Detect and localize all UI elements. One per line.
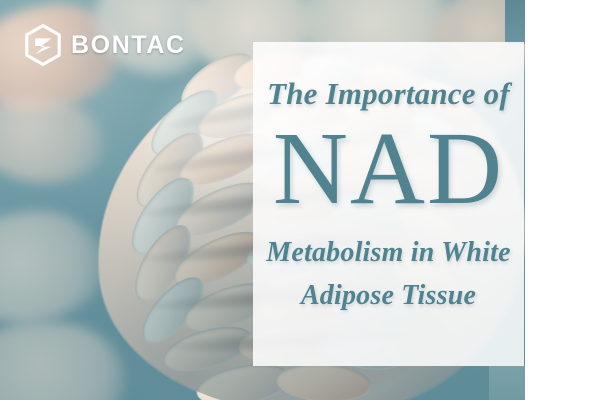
headline-block: The Importance of NAD Metabolism in Whit… — [253, 42, 524, 366]
brand-logo[interactable]: BONTAC — [24, 24, 186, 66]
poster-canvas: BONTAC The Importance of NAD Metabolism … — [0, 0, 600, 400]
headline-line-3: Metabolism in White — [266, 231, 510, 274]
hexagon-leaf-logo-icon — [24, 24, 62, 66]
headline-line-1: The Importance of — [267, 78, 510, 109]
top-right-teal-block — [505, 0, 525, 44]
bottom-right-teal-block — [489, 366, 525, 400]
right-white-gutter — [525, 0, 600, 400]
headline-hero-nad: NAD — [273, 121, 504, 217]
brand-wordmark: BONTAC — [71, 33, 186, 58]
headline-line-4: Adipose Tissue — [301, 274, 476, 317]
